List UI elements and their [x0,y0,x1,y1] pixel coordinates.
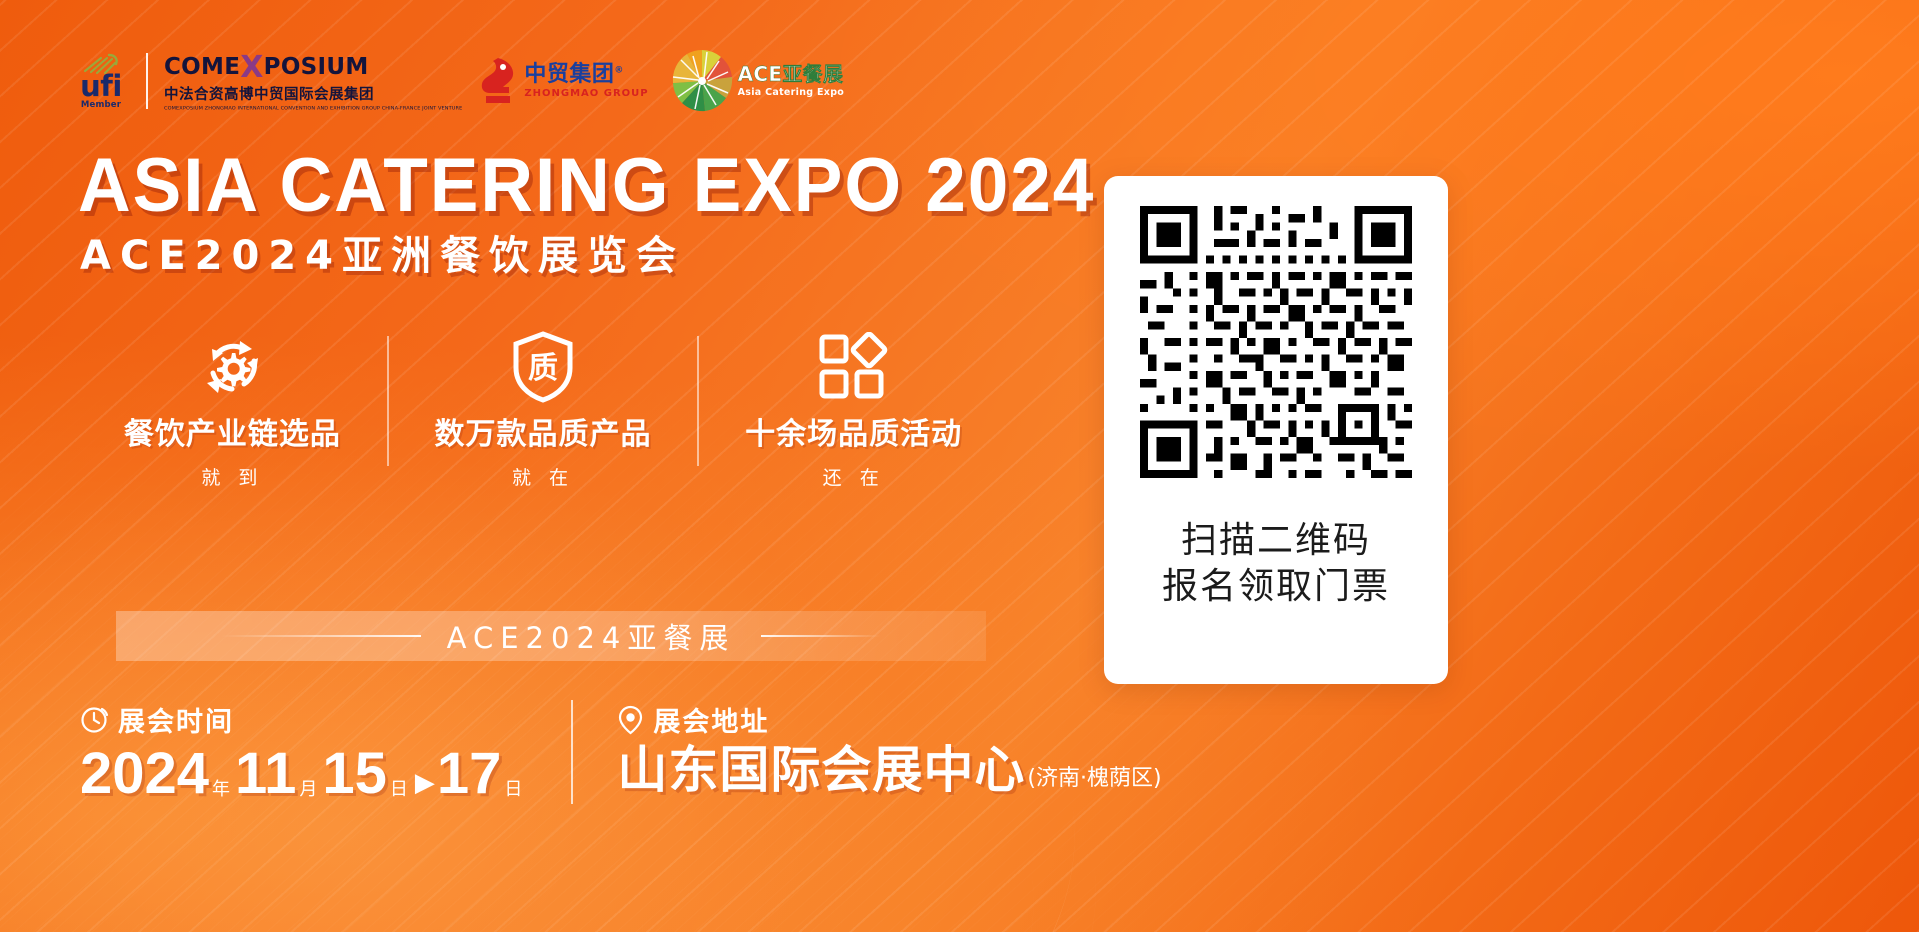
feature-title: 数万款品质产品 [435,418,652,451]
ufi-wordmark: ufi [80,74,122,99]
date-day-end: 17 [437,745,502,803]
zhongmao-chinese-text: 中贸集团 [524,62,614,87]
qr-panel[interactable]: 扫描二维码 报名领取门票 [1104,176,1448,684]
feature-list: 餐饮产业链选品 就 到 质 数万款品质产品 就 在 [78,330,1008,490]
qr-caption-line-2: 报名领取门票 [1162,564,1390,610]
date-month-unit: 月 [299,781,317,799]
feature-subtitle: 就 在 [512,463,574,490]
ace-fan-icon [671,50,733,112]
ace-english-name: Asia Catering Expo [738,87,845,98]
date-month: 11 [235,745,296,803]
info-divider [571,700,573,804]
event-venue-label: 展会地址 [653,700,769,739]
event-date-value: 2024 年 11 月 15 日 ▶ 17 日 [80,745,527,803]
feature-subtitle: 就 到 [201,463,263,490]
ufi-logo: ufi Member [72,52,130,111]
zhongmao-logo: 中贸集团® ZHONGMAO GROUP [476,56,648,106]
feature-item-1: 餐饮产业链选品 就 到 [78,330,387,490]
comexposium-wordmark: COMEXPOSIUM [164,50,462,80]
zhongmao-mark-icon [476,56,520,106]
diamond-squares-icon [817,330,891,404]
zhongmao-chinese-name: 中贸集团® [524,64,648,86]
date-year-unit: 年 [212,781,230,799]
corner-glow [0,452,940,932]
quality-shield-icon: 质 [510,330,576,404]
gear-cycle-icon [196,330,268,404]
slogan-text: ACE2024亚餐展 [447,615,736,657]
location-pin-icon [617,705,644,735]
logo-divider [146,53,148,109]
event-date-label: 展会时间 [118,700,234,739]
comex-word-x: X [240,50,263,85]
feature-item-3: 十余场品质活动 还 在 [699,330,1008,490]
slogan-bar: ACE2024亚餐展 [116,611,986,661]
comexposium-chinese-name: 中法合资高博中贸国际会展集团 [164,83,462,104]
headline-english: ASIA CATERING EXPO 2024 [78,148,1095,224]
clock-icon [80,705,109,734]
event-date-block: 展会时间 2024 年 11 月 15 日 ▶ 17 日 [80,700,527,803]
date-day-end-unit: 日 [504,781,522,799]
feature-item-2: 质 数万款品质产品 就 在 [389,330,698,490]
light-ribbon [0,419,1127,932]
slogan-rule-right [761,635,881,637]
feature-title: 餐饮产业链选品 [124,418,341,451]
event-date-header: 展会时间 [80,700,527,739]
venue-district: (济南·槐荫区) [1027,768,1161,790]
comexposium-logo: COMEXPOSIUM 中法合资高博中贸国际会展集团 COMEXPOSIUM Z… [164,50,462,112]
event-venue-header: 展会地址 [617,700,1161,739]
event-venue-block: 展会地址 山东国际会展中心 (济南·槐荫区) [617,700,1161,795]
date-day-start-unit: 日 [390,781,408,799]
event-info: 展会时间 2024 年 11 月 15 日 ▶ 17 日 展会地址 [80,700,1162,804]
feature-title: 十余场品质活动 [745,418,962,451]
svg-text:质: 质 [528,351,558,386]
registered-mark: ® [614,65,624,75]
qr-code[interactable] [1140,206,1412,478]
slogan-rule-left [221,635,421,637]
ufi-member-label: Member [81,100,121,110]
promo-banner: ufi Member COMEXPOSIUM 中法合资高博中贸国际会展集团 CO… [0,0,1919,932]
date-year: 2024 [80,745,209,803]
event-venue-value: 山东国际会展中心 (济南·槐荫区) [617,745,1161,795]
date-day-start: 15 [322,745,387,803]
comex-word-right: POSIUM [264,54,369,80]
headline-chinese: ACE2024亚洲餐饮展览会 [80,236,685,276]
ace-logo: ACE亚餐展 Asia Catering Expo [671,50,845,112]
zhongmao-english-name: ZHONGMAO GROUP [524,88,648,99]
date-range-arrow: ▶ [415,769,435,795]
comex-word-left: COME [164,54,240,80]
comexposium-english-name: COMEXPOSIUM ZHONGMAO INTERNATIONAL CONVE… [164,106,462,111]
qr-caption-line-1: 扫描二维码 [1162,518,1390,564]
logo-strip: ufi Member COMEXPOSIUM 中法合资高博中贸国际会展集团 CO… [72,44,844,118]
qr-caption: 扫描二维码 报名领取门票 [1162,518,1390,610]
feature-subtitle: 还 在 [823,463,885,490]
venue-name: 山东国际会展中心 [617,745,1025,795]
ace-chinese-name: ACE亚餐展 [738,64,845,84]
